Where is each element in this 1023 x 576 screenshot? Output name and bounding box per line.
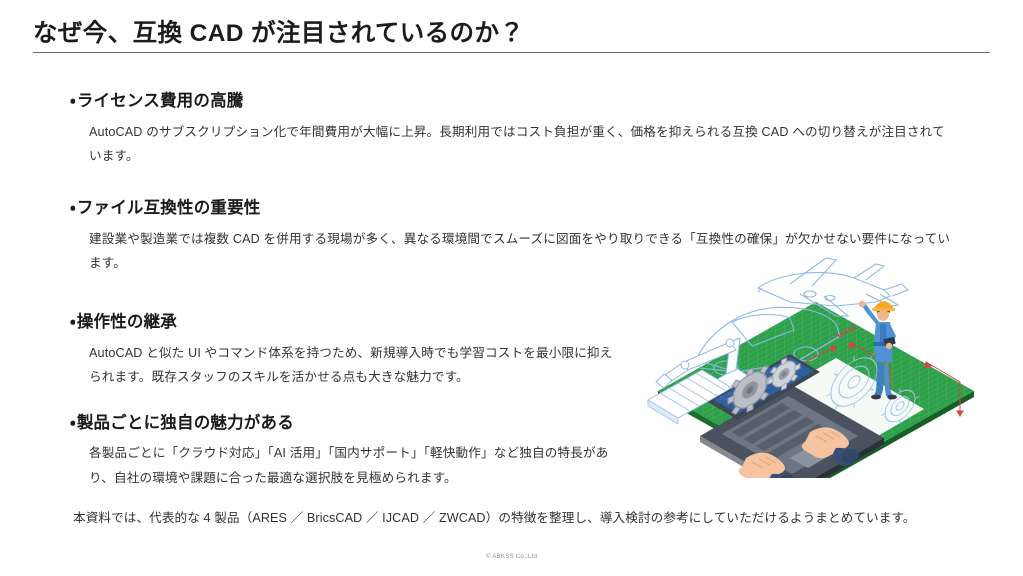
bullet-body-text: 各製品ごとに「クラウド対応」「AI 活用」「国内サポート」「軽快動作」など独自の… (89, 441, 619, 490)
bullet-heading-label: 操作性の継承 (77, 313, 177, 331)
bullet-heading: ・操作性の継承 (70, 313, 670, 333)
bullet-heading-label: 製品ごとに独自の魅力がある (77, 414, 294, 432)
bullet-body-text: AutoCAD と似た UI やコマンド体系を持つため、新規導入時でも学習コスト… (89, 341, 616, 390)
bullet-marker-icon: ・ (70, 92, 76, 110)
bullet-marker-icon: ・ (70, 313, 76, 331)
bullet-list: ・ライセンス費用の高騰 AutoCAD のサブスクリプション化で年間費用が大幅に… (70, 92, 670, 491)
slide-canvas: なぜ今、互換 CAD が注目されているのか？ ・ライセンス費用の高騰 AutoC… (0, 0, 1023, 576)
copyright-text: © ABKSS Co.,Ltd (0, 553, 1023, 560)
bullet-block-product-appeal: ・製品ごとに独自の魅力がある 各製品ごとに「クラウド対応」「AI 活用」「国内サ… (70, 414, 670, 491)
bullet-marker-icon: ・ (70, 414, 76, 432)
isometric-cad-illustration (640, 250, 992, 478)
bullet-heading: ・製品ごとに独自の魅力がある (70, 414, 670, 434)
bullet-heading-label: ライセンス費用の高騰 (77, 92, 244, 110)
title-divider (33, 52, 990, 53)
footer-note: 本資料では、代表的な 4 製品（ARES ／ BricsCAD ／ IJCAD … (73, 507, 916, 526)
bullet-block-file-compatibility: ・ファイル互換性の重要性 建設業や製造業では複数 CAD を併用する現場が多く、… (70, 199, 670, 276)
page-title: なぜ今、互換 CAD が注目されているのか？ (33, 14, 933, 49)
bullet-heading: ・ファイル互換性の重要性 (70, 199, 670, 219)
bullet-block-license-cost: ・ライセンス費用の高騰 AutoCAD のサブスクリプション化で年間費用が大幅に… (70, 92, 670, 169)
bullet-body-text: AutoCAD のサブスクリプション化で年間費用が大幅に上昇。長期利用ではコスト… (89, 120, 955, 169)
bullet-marker-icon: ・ (70, 199, 76, 217)
bullet-heading-label: ファイル互換性の重要性 (77, 199, 261, 217)
bullet-block-operability: ・操作性の継承 AutoCAD と似た UI やコマンド体系を持つため、新規導入… (70, 313, 670, 390)
bullet-heading: ・ライセンス費用の高騰 (70, 92, 670, 112)
